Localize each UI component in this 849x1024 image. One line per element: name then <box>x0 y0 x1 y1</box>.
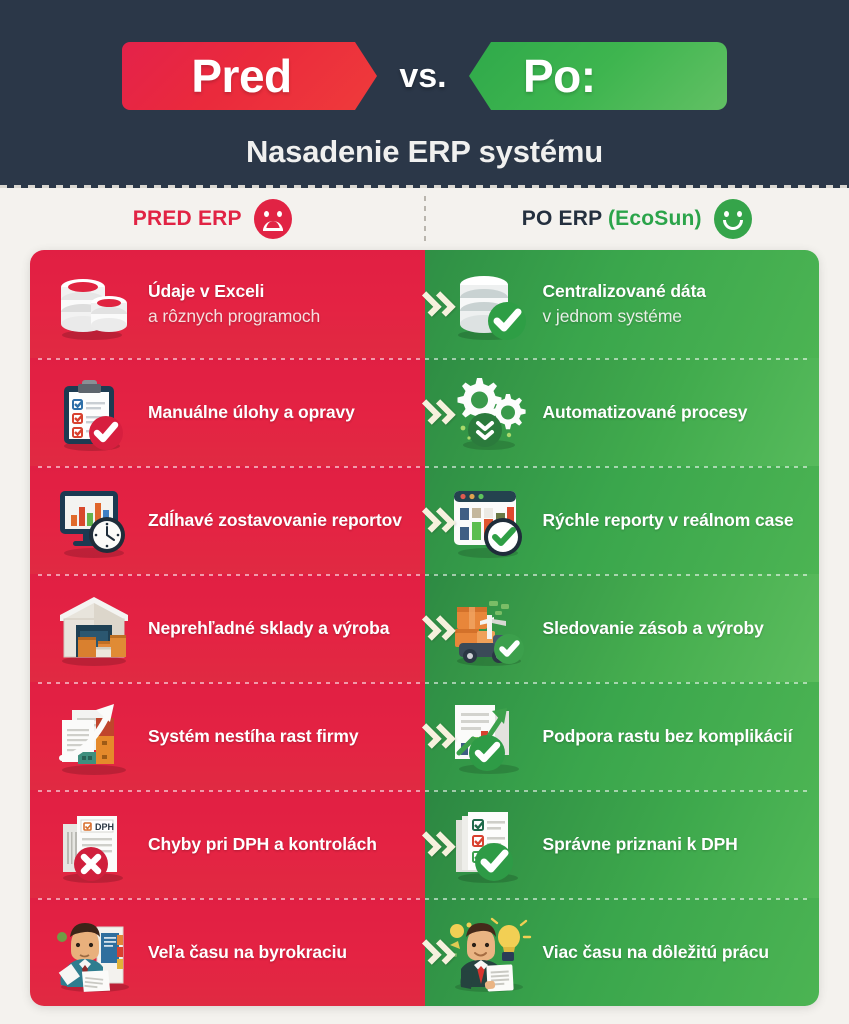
title-banner: Pred vs. Po: <box>122 42 727 110</box>
column-header-after: PO ERP (EcoSun) <box>425 188 849 250</box>
cell-label: Centralizované dátav jednom systéme <box>537 279 706 329</box>
page-header: Pred vs. Po: Nasadenie ERP systému <box>0 0 849 188</box>
cell-label: Manuálne úlohy a opravy <box>142 400 355 425</box>
after-cell-4: Sledovanie zásob a výroby <box>425 574 820 682</box>
comparison-table: Údaje v Excelia rôznych programoch Centr… <box>30 250 819 1006</box>
after-cell-2: Automatizované procesy <box>425 358 820 466</box>
happy-businessman-idea-icon <box>443 909 537 995</box>
cell-label: Neprehľadné sklady a výroba <box>142 616 389 641</box>
transition-arrow-icon <box>422 833 449 855</box>
before-cell-7: Veľa času na byrokraciu <box>30 898 425 1006</box>
cell-subtext: a rôznych programoch <box>148 304 320 329</box>
column-divider <box>424 196 426 242</box>
dph-document-error-icon: DPH <box>48 801 142 887</box>
before-ribbon: Pred <box>122 42 377 110</box>
transition-arrow-icon <box>422 941 449 963</box>
before-ribbon-label: Pred <box>191 49 291 103</box>
after-ribbon: Po: <box>469 42 727 110</box>
cell-label: Správne priznani k DPH <box>537 832 738 857</box>
column-header-before: PRED ERP <box>0 188 425 250</box>
table-row: DPH Chyby pri DPH a kontrolách Správne p… <box>30 790 819 898</box>
table-row: Zdĺhavé zostavovanie reportov Rýchle rep… <box>30 466 819 574</box>
column-header-after-label: PO ERP <box>522 207 608 230</box>
cell-label: Systém nestíha rast firmy <box>142 724 359 749</box>
transition-arrow-icon <box>422 293 449 315</box>
cell-label: Veľa času na byrokraciu <box>142 940 347 965</box>
column-headers: PRED ERP PO ERP (EcoSun) <box>0 188 849 250</box>
after-ribbon-label: Po: <box>523 49 596 103</box>
stressed-businessman-icon <box>48 909 142 995</box>
database-check-icon <box>443 261 537 347</box>
cell-label: Chyby pri DPH a kontrolách <box>142 832 377 857</box>
svg-text:DPH: DPH <box>95 822 114 832</box>
monitor-clock-icon <box>48 477 142 563</box>
after-cell-5: Podpora rastu bez komplikácií <box>425 682 820 790</box>
transition-arrow-icon <box>422 509 449 531</box>
after-cell-6: Správne priznani k DPH <box>425 790 820 898</box>
transition-arrow-icon <box>422 617 449 639</box>
cell-subtext: v jednom systéme <box>543 304 706 329</box>
cell-label: Automatizované procesy <box>537 400 748 425</box>
before-cell-4: · Neprehľadné sklady a výroba <box>30 574 425 682</box>
cell-label: Sledovanie zásob a výroby <box>537 616 764 641</box>
warehouse-icon: · <box>48 585 142 671</box>
cell-label: Viac času na dôležitú prácu <box>537 940 770 965</box>
table-row: Manuálne úlohy a opravy Automatizované p… <box>30 358 819 466</box>
before-cell-6: DPH Chyby pri DPH a kontrolách <box>30 790 425 898</box>
before-cell-5: Systém nestíha rast firmy <box>30 682 425 790</box>
checklist-approved-icon <box>443 801 537 887</box>
clipboard-checklist-icon <box>48 369 142 455</box>
before-cell-3: Zdĺhavé zostavovanie reportov <box>30 466 425 574</box>
table-row: · Neprehľadné sklady a výroba Sledovanie… <box>30 574 819 682</box>
vs-separator: vs. <box>377 42 469 110</box>
vs-label: vs. <box>399 57 446 96</box>
before-cell-1: Údaje v Excelia rôznych programoch <box>30 250 425 358</box>
after-cell-1: Centralizované dátav jednom systéme <box>425 250 820 358</box>
table-row: Veľa času na byrokraciu Viac času na dôl… <box>30 898 819 1006</box>
column-header-before-label: PRED ERP <box>133 207 242 231</box>
delivery-truck-check-icon <box>443 585 537 671</box>
transition-arrow-icon <box>422 401 449 423</box>
page-subtitle: Nasadenie ERP systému <box>246 134 603 170</box>
cell-label: Podpora rastu bez komplikácií <box>537 724 793 749</box>
cell-label: Zdĺhavé zostavovanie reportov <box>142 508 402 533</box>
before-cell-2: Manuálne úlohy a opravy <box>30 358 425 466</box>
gears-automation-icon <box>443 369 537 455</box>
sad-face-icon <box>254 199 292 239</box>
happy-face-icon <box>714 199 752 239</box>
cell-label: Rýchle reporty v reálnom case <box>537 508 794 533</box>
after-cell-7: Viac času na dôležitú prácu <box>425 898 820 1006</box>
transition-arrow-icon <box>422 725 449 747</box>
table-row: Systém nestíha rast firmy Podpora rastu … <box>30 682 819 790</box>
documents-growth-arrow-icon <box>48 693 142 779</box>
cell-label: Údaje v Excelia rôznych programoch <box>142 279 320 329</box>
database-stack-icon <box>48 261 142 347</box>
growth-chart-check-icon <box>443 693 537 779</box>
column-header-brand: (EcoSun) <box>608 207 702 230</box>
table-row: Údaje v Excelia rôznych programoch Centr… <box>30 250 819 358</box>
dashboard-check-icon <box>443 477 537 563</box>
after-cell-3: Rýchle reporty v reálnom case <box>425 466 820 574</box>
